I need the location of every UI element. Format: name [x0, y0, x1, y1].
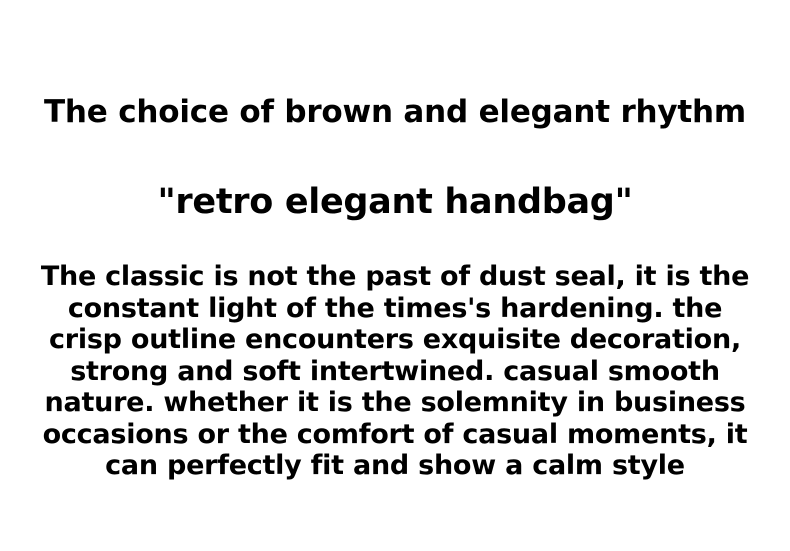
product-name-heading: "retro elegant handbag" [12, 181, 778, 223]
product-description-paragraph: The classic is not the past of dust seal… [27, 261, 763, 482]
product-description-page: The choice of brown and elegant rhythm "… [0, 0, 790, 551]
page-title: The choice of brown and elegant rhythm [12, 93, 778, 131]
